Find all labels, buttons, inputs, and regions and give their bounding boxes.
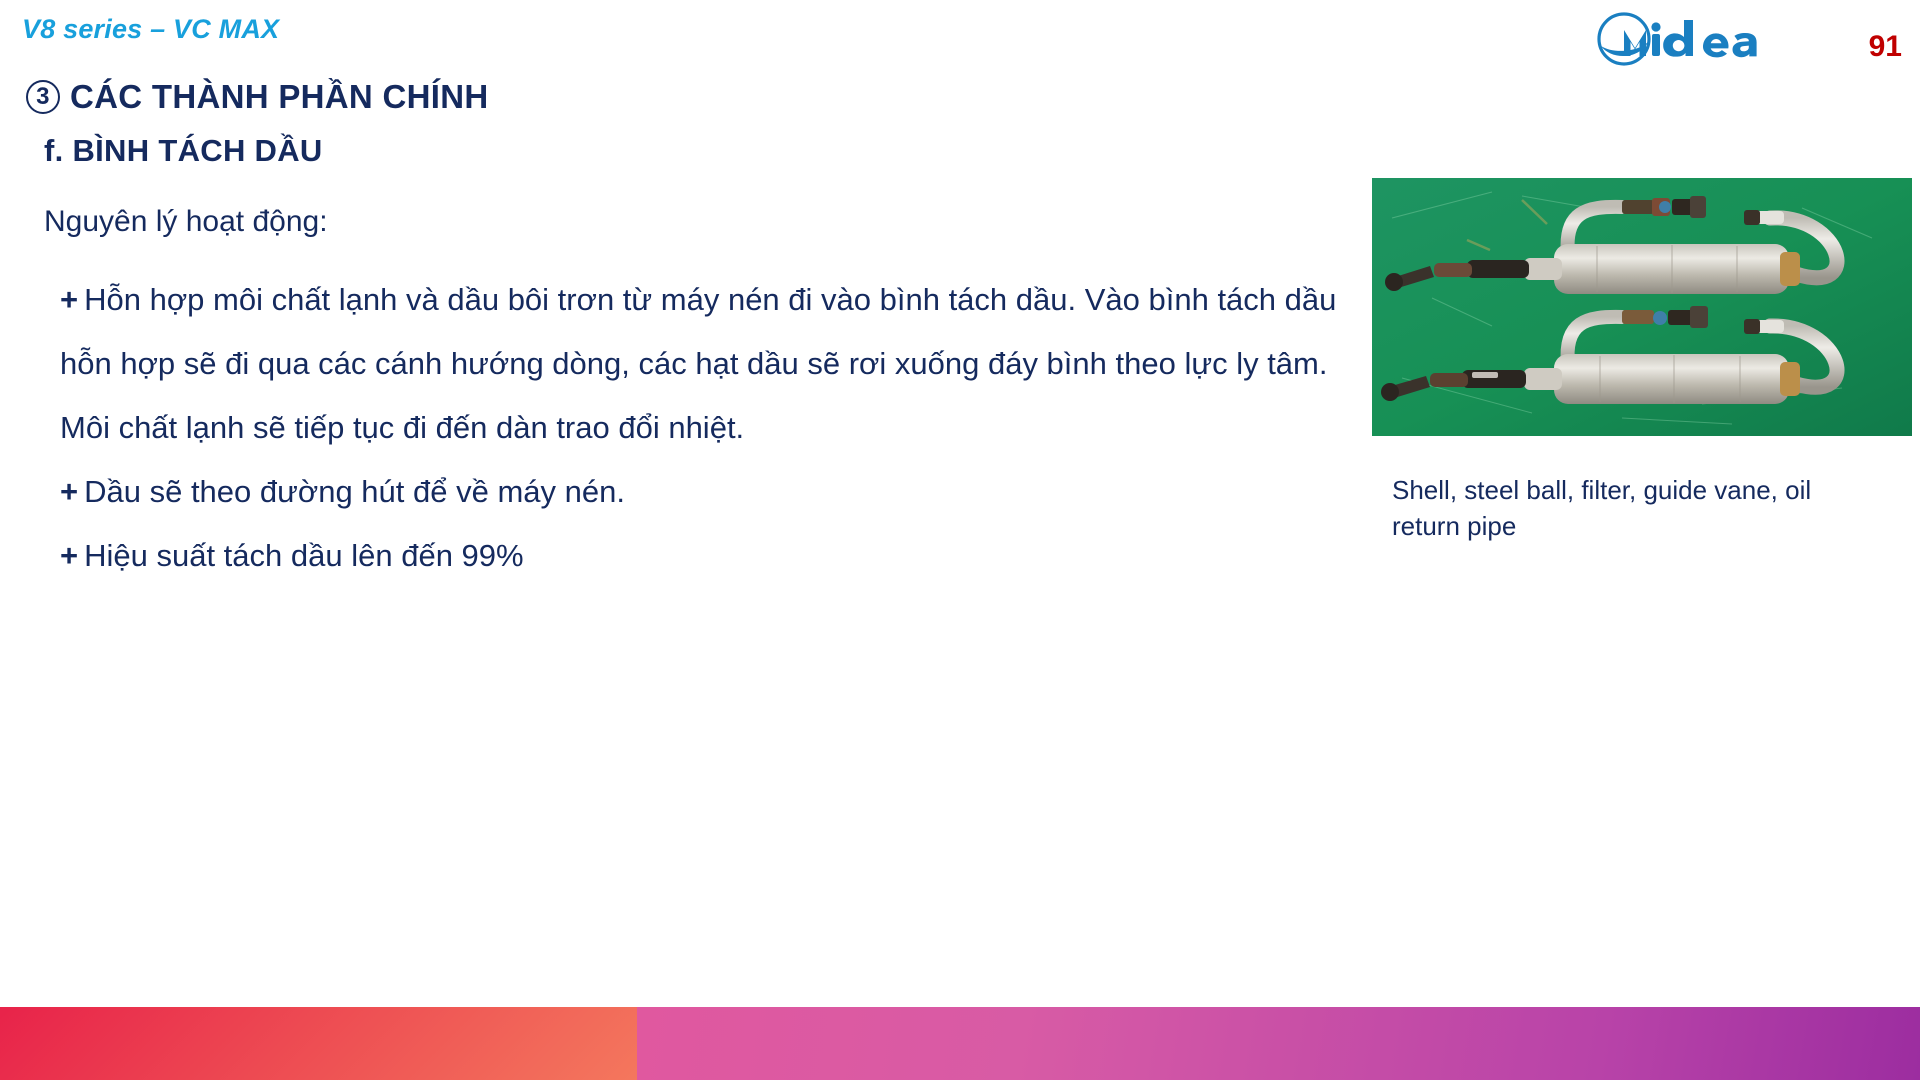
oil-separator-photo (1372, 178, 1912, 436)
page-title: 3 CÁC THÀNH PHẦN CHÍNH (26, 78, 488, 116)
body-intro-text: Nguyên lý hoạt động: (44, 205, 328, 239)
list-item: +Hỗn hợp môi chất lạnh và dầu bôi trơn t… (60, 268, 1350, 460)
footer-bar-right-segment (637, 1007, 1920, 1080)
bullet-text: Hiệu suất tách dầu lên đến 99% (84, 538, 523, 573)
series-label: V8 series – VC MAX (22, 14, 279, 45)
footer-accent-bar (0, 1007, 1920, 1080)
bullet-marker: + (60, 474, 78, 509)
page-number: 91 (1869, 32, 1902, 62)
page-title-text: CÁC THÀNH PHẦN CHÍNH (70, 78, 488, 116)
bullet-marker: + (60, 282, 78, 317)
photo-caption: Shell, steel ball, filter, guide vane, o… (1392, 472, 1862, 544)
section-number-badge: 3 (26, 80, 60, 114)
list-item: +Dầu sẽ theo đường hút để về máy nén. (60, 460, 1350, 524)
brand-logo-block: 91 (1591, 8, 1902, 70)
bullet-text: Hỗn hợp môi chất lạnh và dầu bôi trơn từ… (60, 282, 1336, 445)
page-subtitle: f. BÌNH TÁCH DẦU (44, 133, 323, 169)
midea-logo-icon (1591, 8, 1861, 70)
bullet-list: +Hỗn hợp môi chất lạnh và dầu bôi trơn t… (60, 268, 1350, 588)
footer-bar-left-segment (0, 1007, 637, 1080)
bullet-marker: + (60, 538, 78, 573)
bullet-text: Dầu sẽ theo đường hút để về máy nén. (84, 474, 625, 509)
list-item: +Hiệu suất tách dầu lên đến 99% (60, 524, 1350, 588)
slide-canvas: V8 series – VC MAX 91 3 (0, 0, 1920, 1080)
